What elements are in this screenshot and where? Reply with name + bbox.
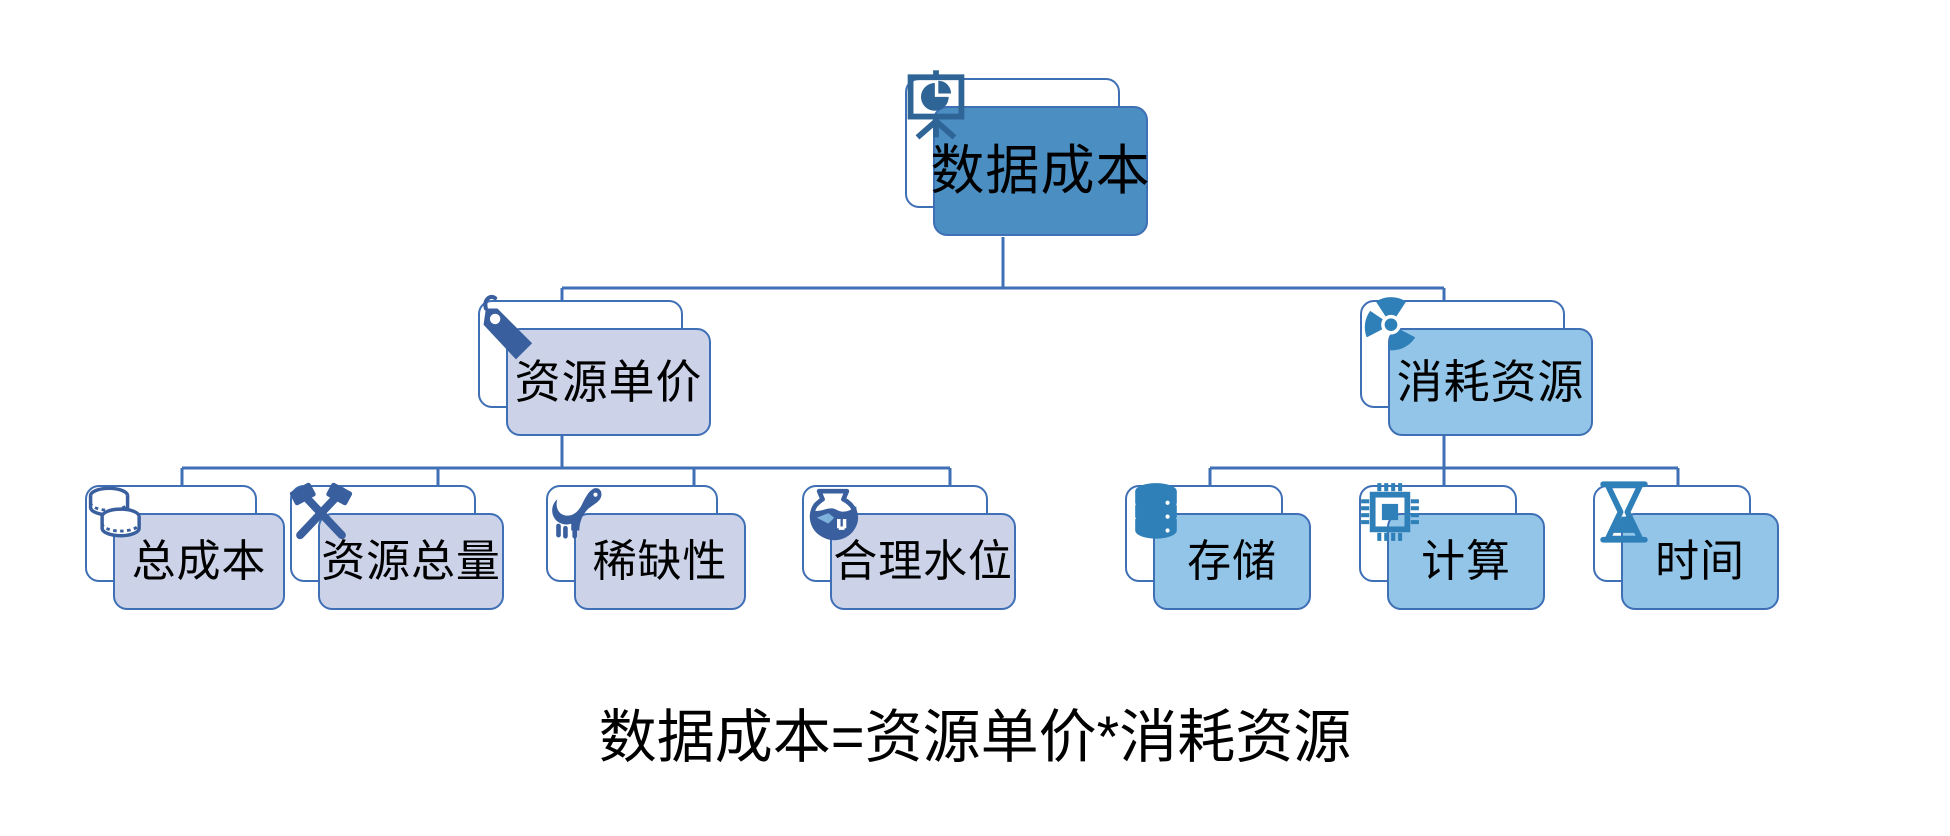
node-label: 计算 — [1421, 540, 1511, 584]
hourglass-icon — [1587, 475, 1661, 549]
node-leaf-scarcity[interactable]: 稀缺性 — [546, 485, 718, 582]
node-leaf-compute[interactable]: 计算 — [1359, 485, 1517, 582]
diagram-caption: 数据成本=资源单价*消耗资源 — [0, 690, 1950, 774]
node-leaf-total-resource[interactable]: 资源总量 — [290, 485, 476, 582]
node-leaf-storage[interactable]: 存储 — [1125, 485, 1283, 582]
node-label: 数据成本 — [930, 144, 1150, 198]
presentation-chart-icon — [899, 68, 973, 142]
node-label: 资源单价 — [515, 359, 703, 405]
diagram-canvas: 数据成本 资源单价 — [0, 0, 1950, 836]
node-leaf-total-cost[interactable]: 总成本 — [85, 485, 257, 582]
node-label: 存储 — [1187, 540, 1277, 584]
fishbowl-icon — [796, 475, 870, 549]
node-label: 时间 — [1655, 540, 1745, 584]
node-branch-consumed-resource[interactable]: 消耗资源 — [1360, 300, 1565, 408]
radiation-icon — [1354, 290, 1428, 364]
price-tag-icon — [472, 290, 546, 364]
node-leaf-reasonable-water-level[interactable]: 合理水位 — [802, 485, 988, 582]
coins-icon — [79, 475, 153, 549]
node-root-data-cost[interactable]: 数据成本 — [905, 78, 1120, 208]
node-label: 消耗资源 — [1397, 359, 1585, 405]
dinosaur-icon — [540, 475, 614, 549]
database-icon — [1119, 475, 1193, 549]
node-leaf-time[interactable]: 时间 — [1593, 485, 1751, 582]
hammer-pickaxe-icon — [284, 475, 358, 549]
cpu-chip-icon — [1353, 475, 1427, 549]
node-branch-unit-price[interactable]: 资源单价 — [478, 300, 683, 408]
